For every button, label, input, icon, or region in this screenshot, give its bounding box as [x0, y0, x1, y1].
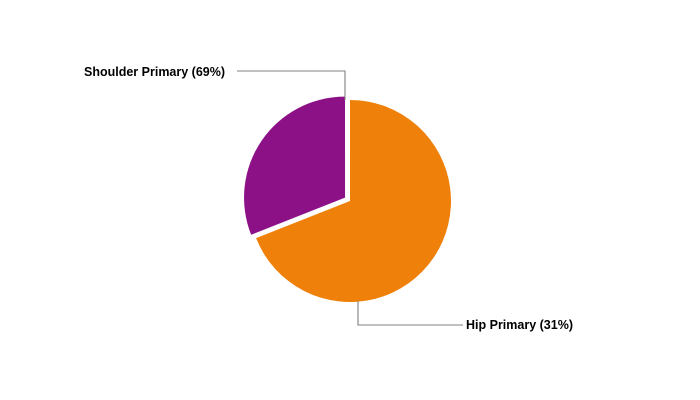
pie-label-hip-primary: Hip Primary (31%) [466, 318, 573, 332]
pie-chart-figure: Shoulder Primary (69%) Hip Primary (31%) [0, 0, 700, 400]
pie-label-shoulder-primary: Shoulder Primary (69%) [84, 65, 225, 79]
chart-canvas: Shoulder Primary (69%) Hip Primary (31%) [0, 0, 700, 400]
